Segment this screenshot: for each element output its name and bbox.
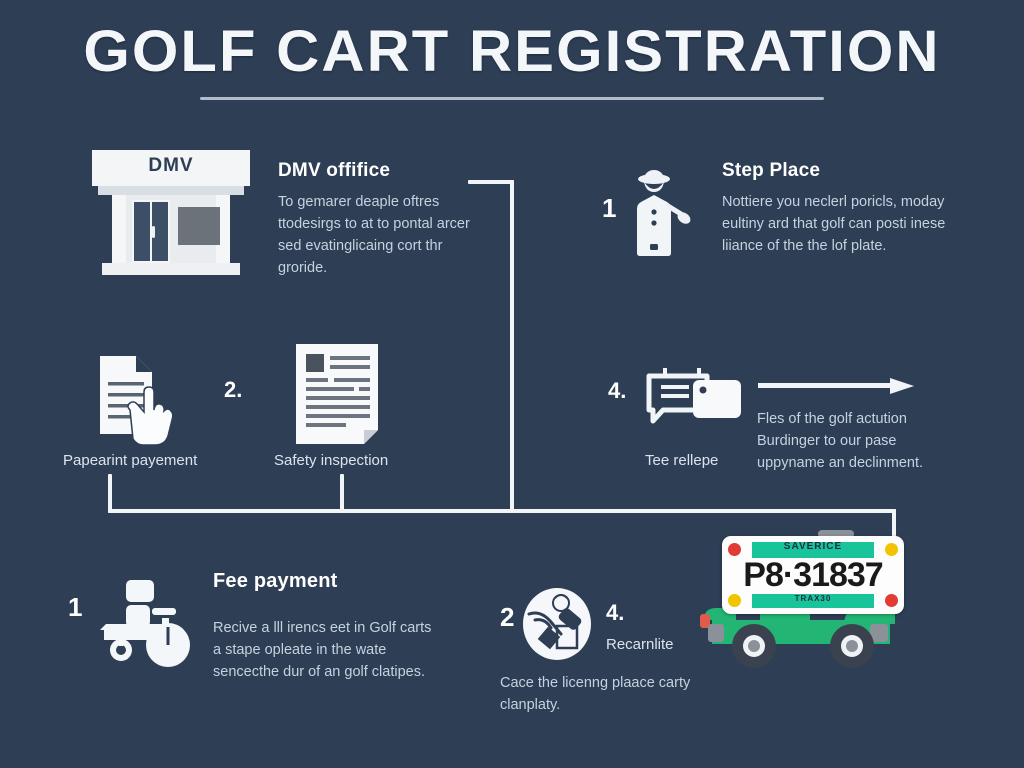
hand-document-badge-icon — [521, 586, 593, 662]
infographic-canvas: GOLF CART REGISTRATION DMV DMV offifice … — [0, 0, 1024, 768]
license-plate: SAVERICE P8·31837 TRAX30 — [722, 536, 904, 614]
document-icon — [293, 342, 381, 446]
license-body-text: Cace the licenng plaace carty clanplaty. — [500, 672, 700, 716]
dmv-heading: DMV offifice — [278, 160, 478, 182]
plate-dot-bottom-left — [728, 594, 741, 607]
connector-drop-left — [108, 474, 112, 513]
dmv-text-block: DMV offifice To gemarer deaple oftres tt… — [278, 160, 478, 279]
step-place-heading: Step Place — [722, 160, 966, 182]
tee-number: 4. — [608, 378, 626, 404]
dmv-sign-text: DMV — [92, 155, 250, 177]
dmv-body-text: To gemarer deaple oftres ttodesirgs to a… — [278, 191, 478, 279]
golf-cart-illustration: SAVERICE P8·31837 TRAX30 — [700, 528, 930, 678]
cart-clock-icon — [98, 578, 198, 670]
document-hand-icon — [96, 352, 186, 448]
connector-drop-mid — [340, 474, 344, 513]
safety-caption: Safety inspection — [274, 452, 388, 469]
license-number: 2 — [500, 602, 514, 633]
tee-caption: Tee rellepe — [645, 452, 718, 469]
plate-footer-text: TRAX30 — [752, 594, 874, 603]
connector-horizontal-main — [108, 509, 896, 513]
golfer-icon — [628, 168, 692, 260]
connector-vertical-top — [510, 180, 514, 512]
card-chat-icon — [645, 368, 745, 430]
plate-number: P8·31837 — [722, 556, 904, 595]
tee-body-text: Fles of the golf actution Burdinger to o… — [757, 408, 967, 474]
page-title: GOLF CART REGISTRATION — [0, 18, 1024, 85]
plate-dot-top-left — [728, 543, 741, 556]
recarnlite-caption: Recarnlite — [606, 636, 674, 653]
title-divider — [200, 97, 824, 100]
paperwork-number: 2. — [224, 377, 242, 403]
dmv-building-icon: DMV — [92, 150, 250, 275]
step-place-body-text: Nottiere you neclerl poricls, moday eult… — [722, 191, 966, 257]
plate-dot-bottom-right — [885, 594, 898, 607]
step-place-text-block: Step Place Nottiere you neclerl poricls,… — [722, 160, 966, 257]
paperwork-caption: Papearint payement — [63, 452, 197, 469]
step-place-number: 1 — [602, 193, 616, 224]
fee-body-text: Recive a lll irencs eet in Golf carts a … — [213, 617, 443, 683]
recarnlite-number: 4. — [606, 600, 624, 626]
plate-banner-text: SAVERICE — [752, 541, 874, 552]
arrow-right-icon — [758, 378, 918, 394]
fee-heading: Fee payment — [213, 570, 443, 593]
plate-dot-top-right — [885, 543, 898, 556]
fee-text-block: Fee payment Recive a lll irencs eet in G… — [213, 570, 443, 683]
fee-number: 1 — [68, 592, 82, 623]
